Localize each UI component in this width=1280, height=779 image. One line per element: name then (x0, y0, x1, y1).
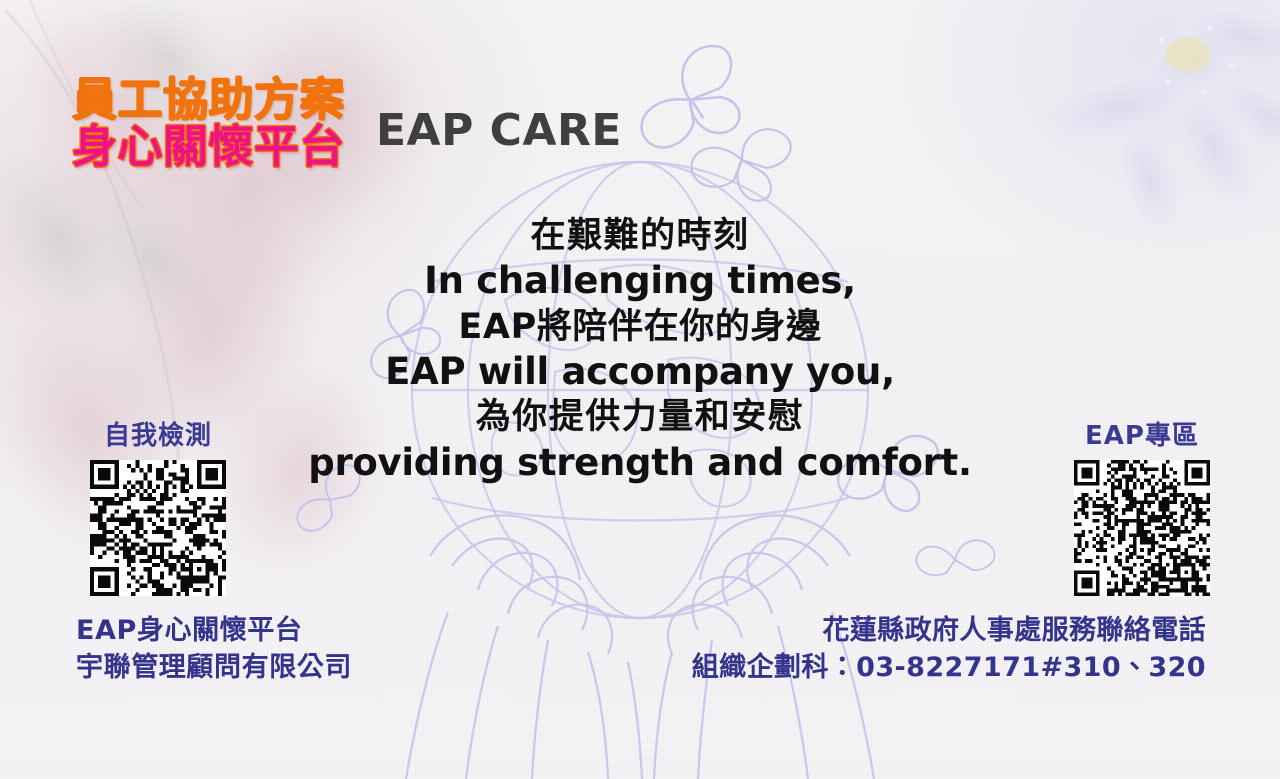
footer-provider-platform: EAP身心關懷平台 (76, 612, 352, 649)
qr-block-eap-zone[interactable]: EAP專區 (1052, 415, 1232, 596)
page-title: EAP CARE (376, 105, 622, 156)
message-line-4: EAP will accompany you, (0, 349, 1280, 396)
message-line-2: In challenging times, (0, 258, 1280, 305)
eap-program-logo: 員工協助方案 身心關懷平台 (72, 78, 345, 169)
footer-contact: 花蓮縣政府人事處服務聯絡電話 組織企劃科：03-8227171#310、320 (692, 612, 1206, 687)
qr-caption-self-assessment: 自我檢測 (68, 415, 248, 452)
logo-line-employee-assistance-program: 員工協助方案 (72, 78, 345, 122)
qr-block-self-assessment[interactable]: 自我檢測 (68, 415, 248, 596)
qr-caption-eap-zone: EAP專區 (1052, 415, 1232, 452)
footer-contact-phone: 組織企劃科：03-8227171#310、320 (692, 649, 1206, 686)
logo-line-wellbeing-platform: 身心關懷平台 (72, 125, 345, 169)
qr-code-icon-self-assessment[interactable] (90, 460, 226, 596)
qr-code-icon-eap-zone[interactable] (1074, 460, 1210, 596)
footer-contact-title: 花蓮縣政府人事處服務聯絡電話 (692, 612, 1206, 649)
footer-provider: EAP身心關懷平台 宇聯管理顧問有限公司 (76, 612, 352, 687)
footer-provider-company: 宇聯管理顧問有限公司 (76, 649, 352, 686)
message-line-1: 在艱難的時刻 (0, 214, 1280, 258)
eap-care-poster: 員工協助方案 身心關懷平台 EAP CARE 在艱難的時刻 In challen… (0, 0, 1280, 779)
message-line-3: EAP將陪伴在你的身邊 (0, 305, 1280, 349)
